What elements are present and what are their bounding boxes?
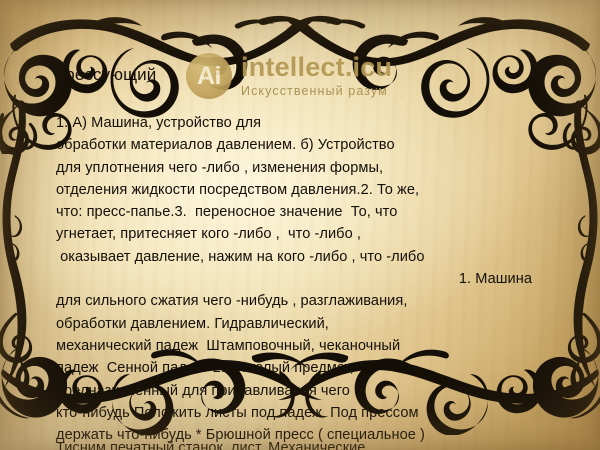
headword: прессующий	[56, 65, 156, 85]
slide-canvas: Ai intellect.icu Искусственный разум пре…	[0, 0, 600, 450]
definition-line: угнетает, притесняет кого -либо , что -л…	[56, 226, 361, 242]
ai-logo-badge-icon: Ai	[186, 53, 232, 99]
filigree-vine-left-edge-icon	[0, 100, 54, 390]
definition-line: падеж Сенной падеж 2. Тяжелый предмет,	[56, 360, 354, 376]
definition-line: механический падеж Штамповочный, чеканоч…	[56, 338, 400, 354]
watermark: Ai intellect.icu Искусственный разум	[186, 53, 392, 99]
definition-body: 1. А) Машина, устройство для обработки м…	[56, 112, 556, 450]
watermark-title: intellect.icu	[241, 54, 392, 81]
definition-line: 1. А) Машина, устройство для	[56, 115, 261, 131]
definition-line: кто-нибудь Положить листы под падеж Под …	[56, 405, 419, 421]
definition-line: обработки материалов давлением. б) Устро…	[56, 137, 395, 153]
definition-line: для сильного сжатия чего -нибудь , разгл…	[56, 293, 407, 309]
definition-line: обработки давлением. Гидравлический,	[56, 316, 329, 332]
definition-line-right: 1. Машина	[56, 268, 556, 290]
definition-line: предназначенный для придавливания чего	[56, 383, 350, 399]
definition-line: что: пресс-папье.3. переносное значение …	[56, 204, 397, 220]
watermark-text: intellect.icu Искусственный разум	[241, 54, 392, 98]
watermark-subtitle: Искусственный разум	[241, 85, 392, 98]
definition-line: для уплотнения чего -либо , изменения фо…	[56, 160, 383, 176]
definition-line: оказывает давление, нажим на кого -либо …	[56, 249, 425, 265]
definition-line: отделения жидкости посредством давления.…	[56, 182, 419, 198]
clipped-bottom-line: Тисним печатный станок, лист. Механическ…	[56, 437, 576, 450]
